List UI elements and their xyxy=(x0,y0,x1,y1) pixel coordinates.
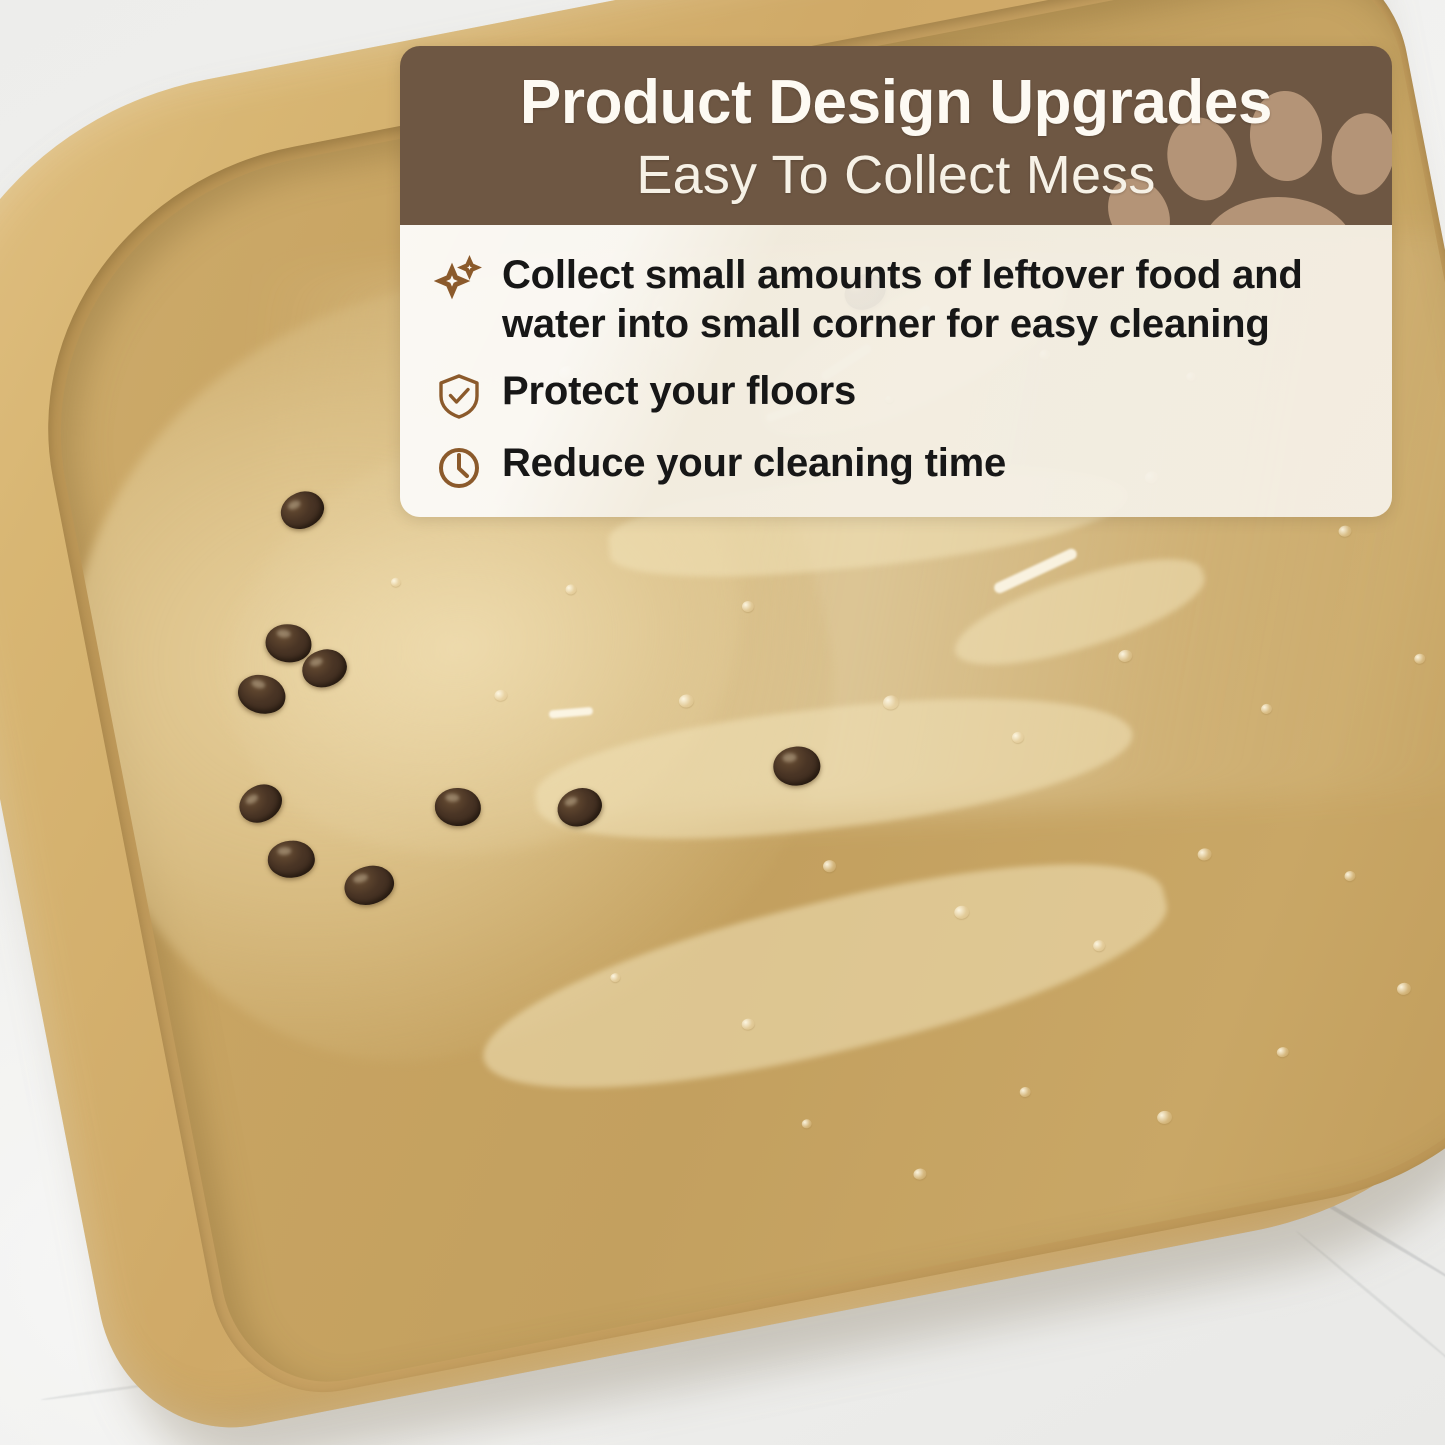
water-droplet xyxy=(1276,1046,1290,1058)
list-item: Reduce your cleaning time xyxy=(400,439,1392,493)
water-droplet xyxy=(1396,982,1412,996)
water-droplet xyxy=(1344,870,1357,882)
water-droplet xyxy=(912,1167,927,1180)
water-droplet xyxy=(801,1118,813,1129)
sparkle-icon xyxy=(434,255,484,305)
shield-check-icon xyxy=(434,371,484,421)
water-droplet xyxy=(1156,1110,1173,1126)
list-item: Collect small amounts of leftover food a… xyxy=(400,251,1392,349)
feature-list: Collect small amounts of leftover food a… xyxy=(400,251,1392,493)
product-marketing-image: smiloo Product Design Upgrades Easy To C… xyxy=(0,0,1445,1445)
water-droplet xyxy=(822,859,837,873)
card-header: Product Design Upgrades Easy To Collect … xyxy=(400,46,1392,225)
info-card: Product Design Upgrades Easy To Collect … xyxy=(400,46,1392,517)
card-body: Collect small amounts of leftover food a… xyxy=(400,225,1392,517)
water-droplet xyxy=(1019,1086,1032,1098)
card-title: Product Design Upgrades xyxy=(400,66,1392,134)
list-item: Protect your floors xyxy=(400,367,1392,421)
water-droplet xyxy=(1197,847,1213,861)
list-item-label: Protect your floors xyxy=(502,367,856,416)
card-subtitle: Easy To Collect Mess xyxy=(400,148,1392,202)
clock-icon xyxy=(434,443,484,493)
list-item-label: Collect small amounts of leftover food a… xyxy=(502,251,1348,349)
list-item-label: Reduce your cleaning time xyxy=(502,439,1006,488)
